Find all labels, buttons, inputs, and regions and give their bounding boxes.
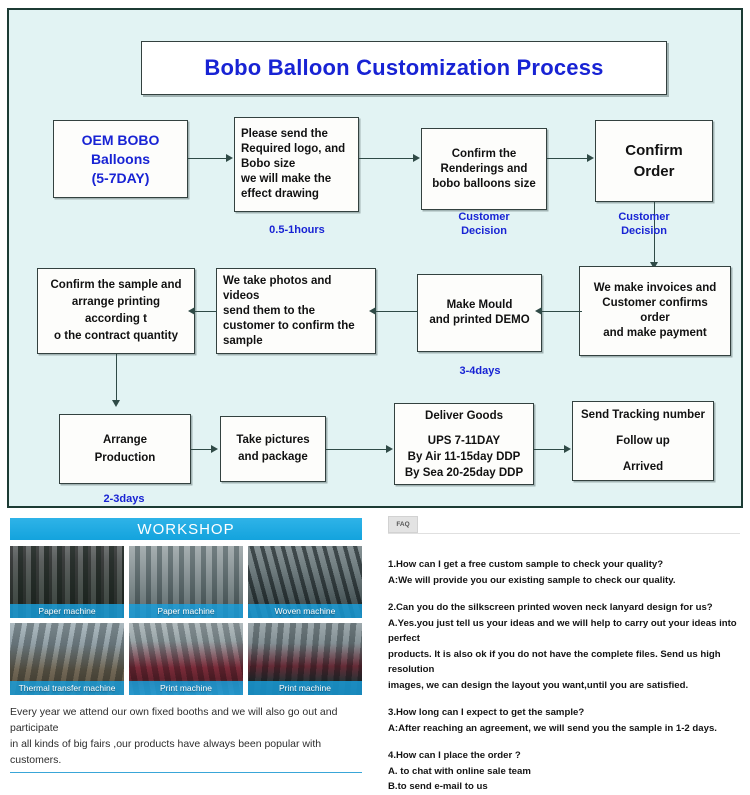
box-line: By Sea 20-25day DDP bbox=[401, 465, 527, 481]
flowchart-title-box: Bobo Balloon Customization Process bbox=[141, 41, 667, 95]
connector-line bbox=[534, 449, 564, 450]
faq-section: FAQ 1.How can I get a free custom sample… bbox=[388, 516, 740, 756]
connector-line bbox=[376, 311, 418, 312]
faq-answer-line: A. to chat with online sale team bbox=[388, 764, 740, 780]
faq-divider bbox=[388, 533, 740, 534]
box-line: (5-7DAY) bbox=[60, 169, 181, 188]
box-line: and printed DEMO bbox=[424, 313, 535, 328]
box-line: Follow up bbox=[579, 428, 707, 454]
box-line: By Air 11-15day DDP bbox=[401, 449, 527, 465]
box-arrange-production: Arrange Production bbox=[59, 414, 191, 484]
photo-caption: Print machine bbox=[129, 681, 243, 695]
box-confirm-sample: Confirm the sample and arrange printing … bbox=[37, 268, 195, 354]
box-line: Required logo, and bbox=[241, 142, 352, 157]
box-line: Renderings and bbox=[428, 162, 540, 177]
note-line: Customer bbox=[458, 211, 509, 223]
photo-caption: Paper machine bbox=[10, 604, 124, 618]
box-line: Please send the bbox=[241, 127, 352, 142]
box-confirm-renderings: Confirm the Renderings and bobo balloons… bbox=[421, 128, 547, 210]
connector-line bbox=[188, 158, 226, 159]
connector-line bbox=[359, 158, 413, 159]
arrow-right-icon bbox=[386, 445, 393, 453]
box-line: Arrange bbox=[66, 431, 184, 449]
faq-answer-line: A:We will provide you our existing sampl… bbox=[388, 573, 740, 589]
box-line: Deliver Goods bbox=[401, 408, 527, 424]
faq-answer-line: A:After reaching an agreement, we will s… bbox=[388, 721, 740, 737]
box-make-mould: Make Mould and printed DEMO bbox=[417, 274, 542, 352]
box-line: sample bbox=[223, 334, 369, 349]
box-invoices-payment: We make invoices and Customer confirms o… bbox=[579, 266, 731, 356]
arrow-right-icon bbox=[564, 445, 571, 453]
box-photos-videos: We take photos and videos send them to t… bbox=[216, 268, 376, 354]
workshop-photo[interactable]: Paper machine bbox=[129, 546, 243, 618]
box-line: UPS 7-11DAY bbox=[401, 433, 527, 449]
box-line: arrange printing according t bbox=[44, 294, 188, 328]
box-send-requirements: Please send the Required logo, and Bobo … bbox=[234, 117, 359, 212]
box-line: bobo balloons size bbox=[428, 177, 540, 192]
photo-caption: Thermal transfer machine bbox=[10, 681, 124, 695]
faq-answer-line: A.Yes.you just tell us your ideas and we… bbox=[388, 616, 740, 647]
faq-item: 1.How can I get a free custom sample to … bbox=[388, 557, 740, 588]
box-oem-bobo-balloons: OEM BOBO Balloons (5-7DAY) bbox=[53, 120, 188, 198]
box-line: Order bbox=[602, 161, 706, 182]
workshop-note-line: in all kinds of big fairs ,our products … bbox=[10, 736, 362, 768]
page-title: Bobo Balloon Customization Process bbox=[204, 55, 603, 81]
box-line: Customer confirms order bbox=[586, 296, 724, 326]
workshop-photo[interactable]: Woven machine bbox=[248, 546, 362, 618]
box-line: customer to confirm the bbox=[223, 319, 369, 334]
connector-line bbox=[326, 449, 386, 450]
connector-line bbox=[542, 311, 582, 312]
faq-question: 2.Can you do the silkscreen printed wove… bbox=[388, 600, 740, 616]
box-line: OEM BOBO bbox=[60, 131, 181, 150]
arrow-down-icon bbox=[112, 400, 120, 407]
box-line: We take photos and videos bbox=[223, 274, 369, 304]
workshop-photo[interactable]: Print machine bbox=[248, 623, 362, 695]
box-line: Arrived bbox=[579, 454, 707, 480]
connector-line bbox=[547, 158, 587, 159]
box-confirm-order: Confirm Order bbox=[595, 120, 713, 202]
workshop-photo[interactable]: Print machine bbox=[129, 623, 243, 695]
box-line: Send Tracking number bbox=[579, 402, 707, 428]
workshop-note-line: Every year we attend our own fixed booth… bbox=[10, 704, 362, 736]
faq-question: 3.How long can I expect to get the sampl… bbox=[388, 705, 740, 721]
faq-item: 4.How can I place the order ? A. to chat… bbox=[388, 748, 740, 795]
tab-faq[interactable]: FAQ bbox=[388, 516, 418, 533]
workshop-photo[interactable]: Thermal transfer machine bbox=[10, 623, 124, 695]
photo-caption: Print machine bbox=[248, 681, 362, 695]
box-line: Balloons bbox=[60, 150, 181, 169]
workshop-section: WORKSHOP Paper machine Paper machine Wov… bbox=[10, 518, 362, 753]
box-line: Confirm the bbox=[428, 147, 540, 162]
box-line: effect drawing bbox=[241, 187, 352, 202]
box-tracking-followup: Send Tracking number Follow up Arrived bbox=[572, 401, 714, 481]
note-customer-decision-2: Customer Decision bbox=[589, 210, 699, 238]
faq-answer-line: products. It is also ok if you do not ha… bbox=[388, 647, 740, 678]
note-customer-decision-1: Customer Decision bbox=[423, 210, 545, 238]
arrow-left-icon bbox=[369, 307, 376, 315]
box-line: Production bbox=[66, 449, 184, 467]
note-duration-3-4days: 3-4days bbox=[421, 364, 539, 378]
box-deliver-goods: Deliver Goods UPS 7-11DAY By Air 11-15da… bbox=[394, 403, 534, 485]
box-line: We make invoices and bbox=[586, 281, 724, 296]
connector-line bbox=[195, 311, 217, 312]
faq-answer-line: B.to send e-mail to us bbox=[388, 779, 740, 795]
faq-answer-line: images, we can design the layout you wan… bbox=[388, 678, 740, 694]
arrow-right-icon bbox=[587, 154, 594, 162]
workshop-header: WORKSHOP bbox=[10, 518, 362, 540]
faq-item: 3.How long can I expect to get the sampl… bbox=[388, 705, 740, 736]
box-line: Take pictures bbox=[227, 432, 319, 449]
photo-caption: Paper machine bbox=[129, 604, 243, 618]
arrow-left-icon bbox=[188, 307, 195, 315]
connector-line bbox=[191, 449, 211, 450]
box-line: send them to the bbox=[223, 304, 369, 319]
box-line: Make Mould bbox=[424, 298, 535, 313]
arrow-right-icon bbox=[413, 154, 420, 162]
arrow-right-icon bbox=[226, 154, 233, 162]
arrow-left-icon bbox=[535, 307, 542, 315]
box-line: Confirm the sample and bbox=[44, 277, 188, 294]
workshop-photo-grid: Paper machine Paper machine Woven machin… bbox=[10, 546, 362, 695]
box-line: we will make the bbox=[241, 172, 352, 187]
box-line: Bobo size bbox=[241, 157, 352, 172]
box-take-pictures-package: Take pictures and package bbox=[220, 416, 326, 482]
box-line: and make payment bbox=[586, 326, 724, 341]
note-duration-hours: 0.5-1hours bbox=[239, 223, 355, 237]
faq-item: 2.Can you do the silkscreen printed wove… bbox=[388, 600, 740, 693]
box-line: and package bbox=[227, 449, 319, 466]
photo-caption: Woven machine bbox=[248, 604, 362, 618]
workshop-photo[interactable]: Paper machine bbox=[10, 546, 124, 618]
box-line: Confirm bbox=[602, 140, 706, 161]
box-line: o the contract quantity bbox=[44, 328, 188, 345]
note-duration-2-3days: 2-3days bbox=[59, 492, 189, 506]
arrow-right-icon bbox=[211, 445, 218, 453]
faq-question: 4.How can I place the order ? bbox=[388, 748, 740, 764]
note-line: Customer bbox=[618, 211, 669, 223]
note-line: Decision bbox=[461, 225, 507, 237]
faq-question: 1.How can I get a free custom sample to … bbox=[388, 557, 740, 573]
workshop-note: Every year we attend our own fixed booth… bbox=[10, 704, 362, 773]
note-line: Decision bbox=[621, 225, 667, 237]
flowchart-panel: Bobo Balloon Customization Process OEM B… bbox=[7, 8, 743, 508]
connector-line bbox=[116, 354, 117, 400]
